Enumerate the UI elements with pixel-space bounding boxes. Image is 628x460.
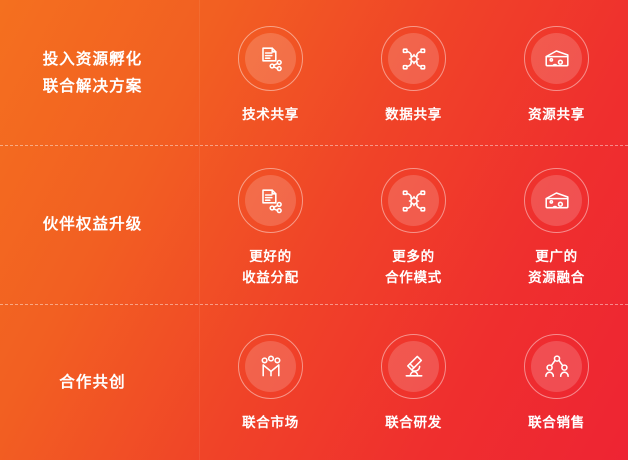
icon-badge bbox=[238, 26, 303, 91]
caption-line: 更广的 bbox=[528, 246, 585, 267]
caption-line: 更多的 bbox=[385, 246, 442, 267]
card-caption: 更多的 合作模式 bbox=[385, 246, 442, 288]
caption-line: 技术共享 bbox=[242, 104, 299, 125]
card-caption: 更广的 资源融合 bbox=[528, 246, 585, 288]
icon-badge bbox=[238, 168, 303, 233]
card-more-models[interactable]: 更多的 合作模式 bbox=[349, 145, 479, 288]
caption-line: 联合研发 bbox=[385, 412, 442, 433]
card-joint-marketing[interactable]: 联合市场 bbox=[206, 304, 336, 433]
card-caption: 联合市场 bbox=[242, 412, 299, 433]
card-resource-sharing[interactable]: 资源共享 bbox=[492, 0, 622, 125]
caption-line: 更好的 bbox=[242, 246, 299, 267]
document-share-icon bbox=[257, 187, 285, 215]
data-network-gear-icon bbox=[400, 45, 428, 73]
card-joint-sales[interactable]: 联合销售 bbox=[492, 304, 622, 433]
row-divider-2 bbox=[0, 304, 628, 305]
card-caption: 更好的 收益分配 bbox=[242, 246, 299, 288]
data-network-gear-icon bbox=[400, 187, 428, 215]
microscope-icon bbox=[400, 353, 428, 381]
partner-benefits-panel: 投入资源孵化 联合解决方案 bbox=[0, 0, 628, 460]
row-title-line: 联合解决方案 bbox=[43, 73, 143, 100]
card-caption: 技术共享 bbox=[242, 104, 299, 125]
card-group: 联合市场 联合研发 bbox=[199, 304, 628, 460]
row-cocreation: 合作共创 联合市场 bbox=[0, 304, 628, 460]
icon-badge bbox=[524, 168, 589, 233]
card-data-sharing[interactable]: 数据共享 bbox=[349, 0, 479, 125]
caption-line: 资源融合 bbox=[528, 267, 585, 288]
caption-line: 收益分配 bbox=[242, 267, 299, 288]
card-broader-resource[interactable]: 更广的 资源融合 bbox=[492, 145, 622, 288]
icon-badge bbox=[381, 334, 446, 399]
caption-line: 联合市场 bbox=[242, 412, 299, 433]
row-divider-1 bbox=[0, 145, 628, 146]
icon-badge bbox=[524, 26, 589, 91]
three-people-icon bbox=[257, 353, 285, 381]
caption-line: 资源共享 bbox=[528, 104, 585, 125]
caption-line: 联合销售 bbox=[528, 412, 585, 433]
icon-badge bbox=[238, 334, 303, 399]
icon-badge bbox=[381, 168, 446, 233]
card-group: 技术共享 bbox=[199, 0, 628, 145]
icon-badge bbox=[524, 334, 589, 399]
card-caption: 数据共享 bbox=[385, 104, 442, 125]
row-title-incubation: 投入资源孵化 联合解决方案 bbox=[0, 0, 199, 145]
resource-wedge-icon bbox=[543, 187, 571, 215]
row-title-cocreation: 合作共创 bbox=[0, 304, 199, 460]
row-title-line: 伙伴权益升级 bbox=[43, 211, 143, 238]
row-title-line: 合作共创 bbox=[59, 369, 125, 396]
team-network-icon bbox=[543, 353, 571, 381]
caption-line: 数据共享 bbox=[385, 104, 442, 125]
row-title-line: 投入资源孵化 bbox=[43, 46, 143, 73]
card-joint-rd[interactable]: 联合研发 bbox=[349, 304, 479, 433]
resource-wedge-icon bbox=[543, 45, 571, 73]
caption-line: 合作模式 bbox=[385, 267, 442, 288]
row-title-partner-benefits: 伙伴权益升级 bbox=[0, 145, 199, 304]
card-tech-sharing[interactable]: 技术共享 bbox=[206, 0, 336, 125]
card-caption: 资源共享 bbox=[528, 104, 585, 125]
icon-badge bbox=[381, 26, 446, 91]
card-group: 更好的 收益分配 bbox=[199, 145, 628, 304]
row-incubation: 投入资源孵化 联合解决方案 bbox=[0, 0, 628, 145]
card-caption: 联合研发 bbox=[385, 412, 442, 433]
card-caption: 联合销售 bbox=[528, 412, 585, 433]
document-share-icon bbox=[257, 45, 285, 73]
row-partner-benefits: 伙伴权益升级 更 bbox=[0, 145, 628, 304]
card-better-revenue[interactable]: 更好的 收益分配 bbox=[206, 145, 336, 288]
